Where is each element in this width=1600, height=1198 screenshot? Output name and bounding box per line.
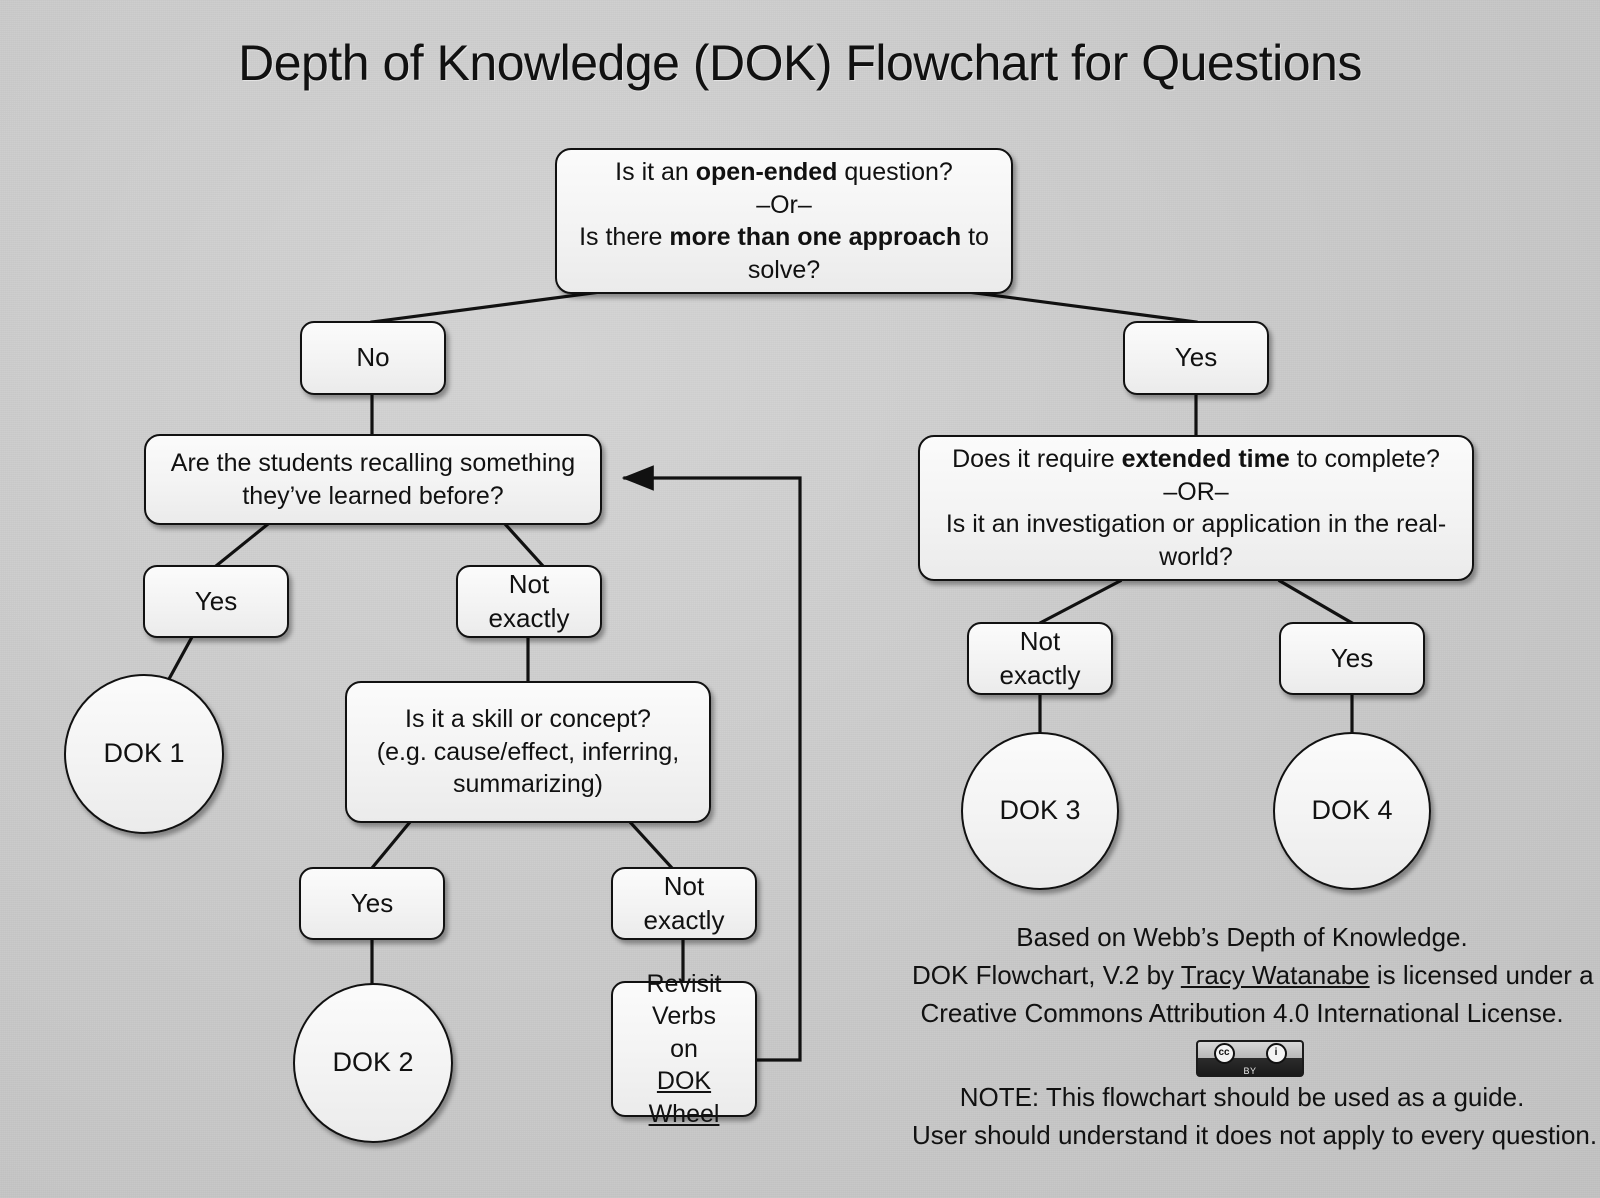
root-q-l1-pre: Is it an	[615, 158, 696, 186]
edge-root-to-yes	[968, 292, 1196, 322]
ext-q-l1-pre: Does it require	[952, 445, 1122, 473]
node-skill-not-exactly[interactable]: Not exactly	[611, 867, 757, 940]
skill-q-l1: Is it a skill or concept?	[405, 705, 651, 733]
attribution-text: Based on Webb’s Depth of Knowledge. DOK …	[912, 918, 1572, 1033]
node-revisit-verbs[interactable]: Revisit Verbs on DOK Wheel	[611, 981, 757, 1117]
node-extended-yes[interactable]: Yes	[1279, 622, 1425, 695]
node-extended-not-exactly[interactable]: Not exactly	[967, 622, 1113, 695]
node-root-yes[interactable]: Yes	[1123, 321, 1269, 395]
dok-wheel-link[interactable]: DOK Wheel	[649, 1067, 720, 1128]
edge-skill-to-yes	[372, 822, 410, 868]
flowchart-canvas: Depth of Knowledge (DOK) Flowchart for Q…	[0, 0, 1600, 1198]
skill-q-l3: summarizing)	[453, 770, 603, 798]
edge-skill-to-notexactly	[630, 822, 672, 868]
node-dok-1-label: DOK 1	[93, 736, 194, 771]
by-glyph-wrap: i	[1250, 1042, 1302, 1064]
ext-q-l1-post: to complete?	[1290, 445, 1440, 473]
edge-recall-to-yes	[216, 524, 268, 566]
edge-recall-to-notexactly	[505, 524, 543, 566]
by-person-icon: i	[1266, 1043, 1287, 1064]
attribution-l2-post: is licensed under a	[1370, 960, 1594, 990]
ext-q-l1-bold: extended time	[1122, 445, 1290, 473]
root-q-l3-pre: Is there	[579, 223, 669, 251]
node-dok-4[interactable]: DOK 4	[1273, 732, 1431, 890]
edge-root-to-no	[372, 292, 600, 322]
node-root-question-text: Is it an open-ended question? –Or– Is th…	[557, 156, 1011, 286]
node-dok-3-label: DOK 3	[989, 793, 1090, 828]
node-extended-question-text: Does it require extended time to complet…	[920, 443, 1472, 573]
cc-glyph-wrap: cc	[1198, 1042, 1250, 1064]
node-recall-yes-label: Yes	[185, 585, 247, 619]
node-skill-yes-label: Yes	[341, 887, 403, 921]
node-dok-2-label: DOK 2	[322, 1045, 423, 1080]
node-recall-not-exactly[interactable]: Not exactly	[456, 565, 602, 638]
node-skill-not-exactly-label: Not exactly	[613, 870, 755, 938]
node-skill-question-text: Is it a skill or concept? (e.g. cause/ef…	[367, 703, 689, 801]
note-text: NOTE: This flowchart should be used as a…	[912, 1078, 1572, 1154]
node-dok-2[interactable]: DOK 2	[293, 983, 453, 1143]
cc-circle-icon: cc	[1214, 1043, 1235, 1064]
node-extended-not-exactly-label: Not exactly	[969, 625, 1111, 693]
node-recall-not-exactly-label: Not exactly	[458, 568, 600, 636]
node-recall-yes[interactable]: Yes	[143, 565, 289, 638]
node-dok-4-label: DOK 4	[1301, 793, 1402, 828]
node-root-yes-label: Yes	[1165, 341, 1227, 375]
root-q-l3-bold: more than one approach	[669, 223, 961, 251]
root-q-l1-bold: open-ended	[696, 158, 838, 186]
node-root-question[interactable]: Is it an open-ended question? –Or– Is th…	[555, 148, 1013, 294]
attribution-line-2: DOK Flowchart, V.2 by Tracy Watanabe is …	[912, 956, 1572, 994]
ext-q-l3: Is it an investigation or application in…	[946, 510, 1446, 571]
attribution-l2-pre: DOK Flowchart, V.2 by	[912, 960, 1181, 990]
edge-extended-to-notexactly	[1040, 581, 1120, 623]
note-line-2: User should understand it does not apply…	[912, 1116, 1572, 1154]
node-skill-yes[interactable]: Yes	[299, 867, 445, 940]
edge-extended-to-yes	[1280, 581, 1352, 623]
node-root-no[interactable]: No	[300, 321, 446, 395]
node-extended-yes-label: Yes	[1321, 642, 1383, 676]
root-q-l1-post: question?	[837, 158, 952, 186]
attribution-line-1: Based on Webb’s Depth of Knowledge.	[912, 918, 1572, 956]
note-line-1: NOTE: This flowchart should be used as a…	[912, 1078, 1572, 1116]
node-root-no-label: No	[346, 341, 399, 375]
attribution-line-3: Creative Commons Attribution 4.0 Interna…	[912, 994, 1572, 1032]
node-revisit-verbs-text: Revisit Verbs on DOK Wheel	[613, 968, 755, 1131]
creative-commons-badge-icon[interactable]: cc i BY	[1196, 1040, 1304, 1077]
recall-q-l2: they’ve learned before?	[242, 482, 503, 510]
node-dok-1[interactable]: DOK 1	[64, 674, 224, 834]
ext-q-l2: –OR–	[1163, 478, 1228, 506]
node-extended-question[interactable]: Does it require extended time to complet…	[918, 435, 1474, 581]
node-recall-question-text: Are the students recalling something the…	[161, 447, 585, 512]
root-q-l2: –Or–	[756, 191, 812, 219]
revisit-l2: on	[670, 1035, 698, 1063]
revisit-l1: Revisit Verbs	[646, 970, 721, 1031]
recall-q-l1: Are the students recalling something	[171, 449, 575, 477]
tracy-watanabe-link[interactable]: Tracy Watanabe	[1181, 960, 1370, 990]
node-recall-question[interactable]: Are the students recalling something the…	[144, 434, 602, 525]
skill-q-l2: (e.g. cause/effect, inferring,	[377, 738, 679, 766]
page-title: Depth of Knowledge (DOK) Flowchart for Q…	[0, 34, 1600, 92]
cc-by-label: BY	[1243, 1066, 1256, 1076]
node-dok-3[interactable]: DOK 3	[961, 732, 1119, 890]
node-skill-question[interactable]: Is it a skill or concept? (e.g. cause/ef…	[345, 681, 711, 823]
